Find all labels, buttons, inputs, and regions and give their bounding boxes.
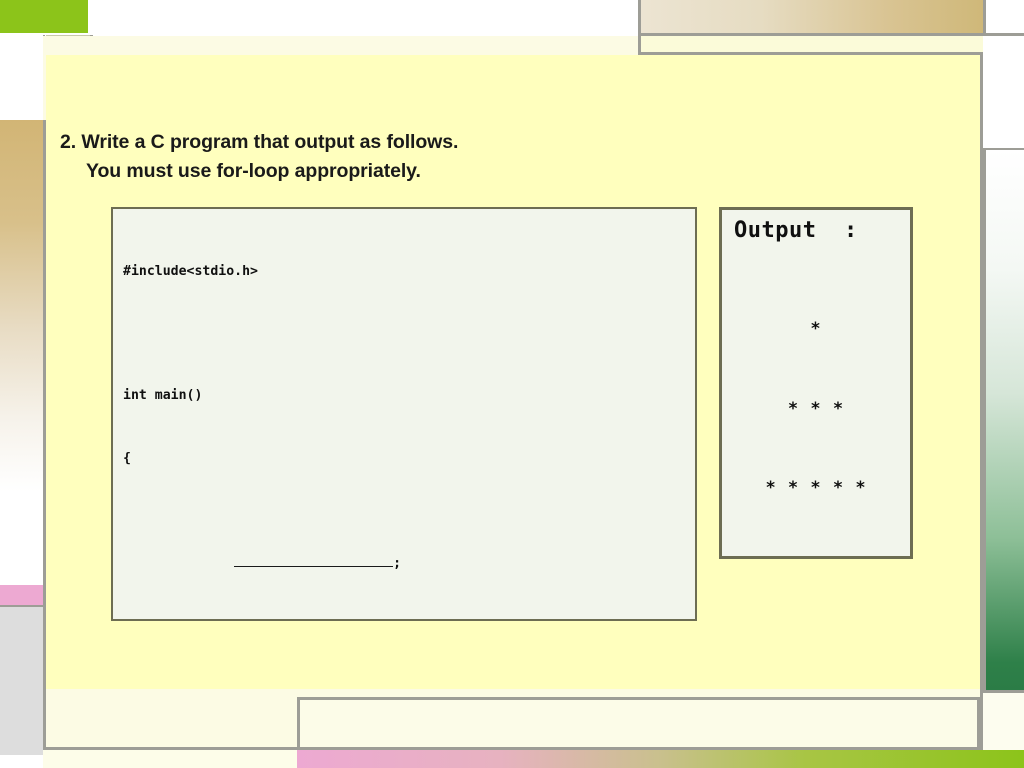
output-row: *: [722, 316, 910, 343]
code-line-statement-blank: ;: [123, 532, 695, 553]
expected-output-box: Output : * * * * * * * * * * * * * * * *…: [719, 207, 913, 559]
deco-bottom-gradient-bar: [297, 750, 1024, 768]
slide-canvas: 2. Write a C program that output as foll…: [0, 0, 1024, 768]
code-skeleton-box: #include<stdio.h> int main() { ; for () …: [111, 207, 697, 621]
code-line: {: [123, 449, 695, 470]
deco-left-gradient-strip: [0, 120, 46, 585]
question-line-1: 2. Write a C program that output as foll…: [60, 128, 680, 157]
deco-top-left-white-block: [0, 35, 45, 122]
deco-right-white-block: [983, 36, 1024, 148]
deco-bottom-left-white: [43, 750, 297, 768]
question-text: 2. Write a C program that output as foll…: [60, 128, 680, 186]
deco-top-green-block: [0, 0, 88, 33]
output-title: Output :: [722, 210, 910, 243]
output-row: * * *: [722, 396, 910, 423]
code-indent: [171, 556, 235, 571]
question-line-2: You must use for-loop appropriately.: [60, 157, 680, 186]
code-line: int main(): [123, 386, 695, 407]
deco-top-right-tan-gradient: [638, 0, 986, 36]
deco-bottom-right-block: [983, 693, 1024, 750]
deco-right-green-gradient: [983, 150, 1024, 690]
code-semicolon: ;: [393, 556, 401, 571]
code-text: int main(): [123, 388, 202, 403]
code-text: {: [123, 451, 131, 466]
deco-top-right-thin-bar: [638, 36, 986, 55]
deco-bottom-outline-box: [297, 697, 980, 750]
fill-blank[interactable]: [234, 553, 393, 567]
output-row: * * * * * * *: [722, 555, 910, 560]
deco-left-pink-bar: [0, 585, 46, 607]
deco-left-gray-block: [0, 607, 46, 755]
deco-right-bottom-rule: [983, 690, 1024, 693]
code-blank-line: [123, 324, 695, 345]
code-line: #include<stdio.h>: [123, 262, 695, 283]
code-text: #include<stdio.h>: [123, 264, 258, 279]
output-row: * * * * *: [722, 475, 910, 502]
code-blank-line: [123, 594, 695, 615]
output-pattern: * * * * * * * * * * * * * * * * * * * * …: [722, 263, 910, 559]
